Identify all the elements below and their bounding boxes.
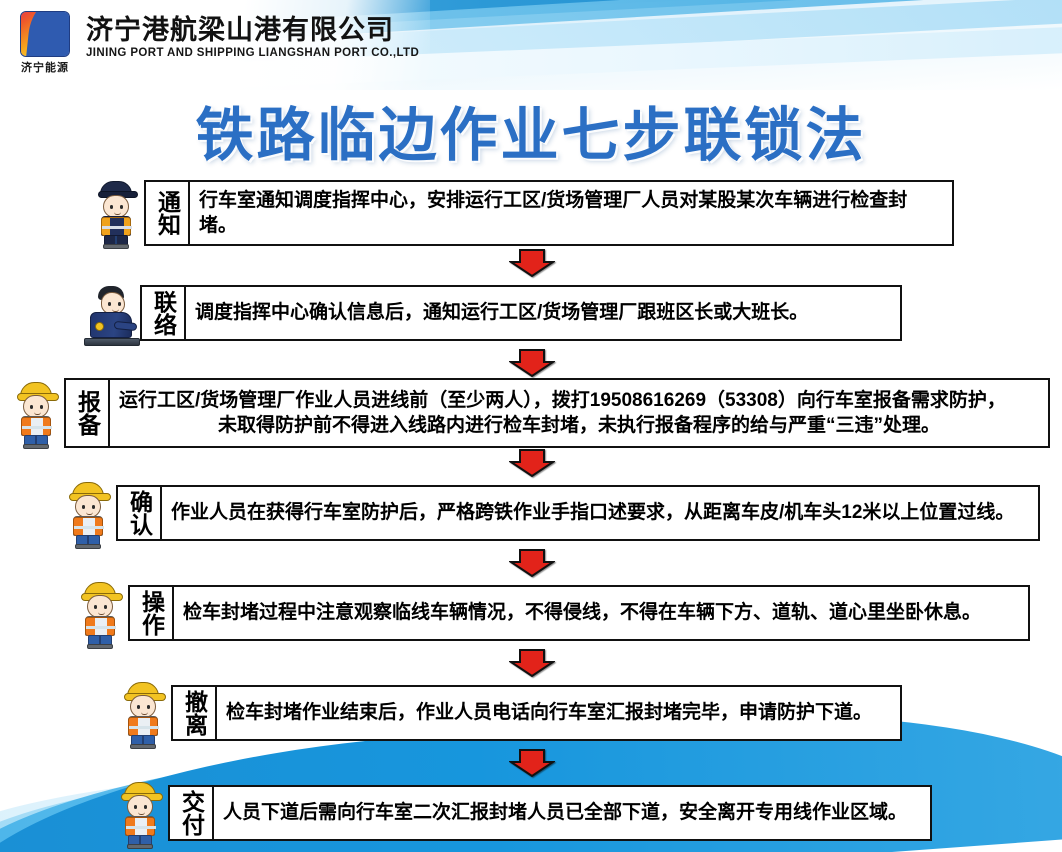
arrow-row-4 bbox=[0, 548, 1062, 578]
railway-officer-icon bbox=[88, 178, 144, 248]
down-arrow-icon bbox=[509, 349, 555, 377]
step-6-card: 撤离 检车封堵作业结束后，作业人员电话向行车室汇报封堵完毕，申请防护下道。 bbox=[171, 685, 902, 741]
step-2-content-box: 调度指挥中心确认信息后，通知运行工区/货场管理厂跟班区长或大班长。 bbox=[186, 285, 902, 341]
page-title: 铁路临边作业七步联锁法 bbox=[0, 88, 1062, 172]
brand-block: 济宁能源 济宁港航梁山港有限公司 JINING PORT AND SHIPPIN… bbox=[14, 12, 419, 75]
step-1-content-box: 行车室通知调度指挥中心，安排运行工区/货场管理厂人员对某股某次车辆进行检查封堵。 bbox=[190, 180, 954, 246]
mascot-2 bbox=[84, 278, 140, 348]
step-2-text: 调度指挥中心确认信息后，通知运行工区/货场管理厂跟班区长或大班长。 bbox=[195, 300, 891, 325]
arrow-row-6 bbox=[0, 748, 1062, 778]
step-row-4: 确认 作业人员在获得行车室防护后，严格跨铁作业手指口述要求，从距离车皮/机车头1… bbox=[0, 478, 1062, 548]
step-7-content-box: 人员下道后需向行车室二次汇报封堵人员已全部下道，安全离开专用线作业区域。 bbox=[214, 785, 932, 841]
mascot-1 bbox=[88, 178, 144, 248]
down-arrow-icon bbox=[509, 749, 555, 777]
mascot-6 bbox=[115, 678, 171, 748]
mascot-7 bbox=[112, 778, 168, 848]
step-2-label-box: 联络 bbox=[140, 285, 186, 341]
step-row-1: 通知 行车室通知调度指挥中心，安排运行工区/货场管理厂人员对某股某次车辆进行检查… bbox=[0, 178, 1062, 248]
step-2-label: 联络 bbox=[152, 290, 175, 336]
step-2-card: 联络 调度指挥中心确认信息后，通知运行工区/货场管理厂跟班区长或大班长。 bbox=[140, 285, 902, 341]
step-row-7: 交付 人员下道后需向行车室二次汇报封堵人员已全部下道，安全离开专用线作业区域。 bbox=[0, 778, 1062, 848]
arrow-row-5 bbox=[0, 648, 1062, 678]
company-logo-icon bbox=[21, 12, 69, 56]
step-5-card: 操作 检车封堵过程中注意观察临线车辆情况，不得侵线，不得在车辆下方、道轨、道心里… bbox=[128, 585, 1030, 641]
down-arrow-icon bbox=[509, 449, 555, 477]
step-7-text: 人员下道后需向行车室二次汇报封堵人员已全部下道，安全离开专用线作业区域。 bbox=[223, 800, 921, 825]
step-1-label: 通知 bbox=[156, 190, 179, 236]
step-3-label: 报备 bbox=[76, 390, 99, 436]
safety-worker-icon bbox=[115, 678, 171, 748]
logo-wrapper: 济宁能源 bbox=[14, 12, 76, 75]
step-5-label-box: 操作 bbox=[128, 585, 174, 641]
dispatcher-at-desk-icon bbox=[84, 278, 140, 348]
step-6-label-box: 撤离 bbox=[171, 685, 217, 741]
company-name-cn: 济宁港航梁山港有限公司 bbox=[86, 16, 419, 44]
safety-worker-icon bbox=[60, 478, 116, 548]
step-5-text: 检车封堵过程中注意观察临线车辆情况，不得侵线，不得在车辆下方、道轨、道心里坐卧休… bbox=[183, 600, 1019, 625]
poster-canvas: 济宁能源 济宁港航梁山港有限公司 JINING PORT AND SHIPPIN… bbox=[0, 0, 1062, 852]
step-3-content-box: 运行工区/货场管理厂作业人员进线前（至少两人），拨打19508616269（53… bbox=[110, 378, 1050, 448]
step-7-label: 交付 bbox=[180, 790, 203, 836]
mascot-4 bbox=[60, 478, 116, 548]
step-row-3: 报备 运行工区/货场管理厂作业人员进线前（至少两人），拨打19508616269… bbox=[0, 378, 1062, 448]
arrow-row-1 bbox=[0, 248, 1062, 278]
step-row-2: 联络 调度指挥中心确认信息后，通知运行工区/货场管理厂跟班区长或大班长。 bbox=[0, 278, 1062, 348]
arrow-row-2 bbox=[0, 348, 1062, 378]
step-7-card: 交付 人员下道后需向行车室二次汇报封堵人员已全部下道，安全离开专用线作业区域。 bbox=[168, 785, 932, 841]
step-row-6: 撤离 检车封堵作业结束后，作业人员电话向行车室汇报封堵完毕，申请防护下道。 bbox=[0, 678, 1062, 748]
step-4-label: 确认 bbox=[128, 490, 151, 536]
step-5-label: 操作 bbox=[140, 590, 163, 636]
step-3-card: 报备 运行工区/货场管理厂作业人员进线前（至少两人），拨打19508616269… bbox=[64, 378, 1050, 448]
safety-worker-icon bbox=[8, 378, 64, 448]
step-4-label-box: 确认 bbox=[116, 485, 162, 541]
seven-step-flow: 通知 行车室通知调度指挥中心，安排运行工区/货场管理厂人员对某股某次车辆进行检查… bbox=[0, 178, 1062, 848]
step-1-text: 行车室通知调度指挥中心，安排运行工区/货场管理厂人员对某股某次车辆进行检查封堵。 bbox=[199, 188, 943, 238]
step-1-label-box: 通知 bbox=[144, 180, 190, 246]
logo-subtitle: 济宁能源 bbox=[14, 59, 76, 75]
step-6-content-box: 检车封堵作业结束后，作业人员电话向行车室汇报封堵完毕，申请防护下道。 bbox=[217, 685, 902, 741]
step-7-label-box: 交付 bbox=[168, 785, 214, 841]
company-name-en: JINING PORT AND SHIPPING LIANGSHAN PORT … bbox=[86, 47, 419, 59]
down-arrow-icon bbox=[509, 649, 555, 677]
step-4-content-box: 作业人员在获得行车室防护后，严格跨铁作业手指口述要求，从距离车皮/机车头12米以… bbox=[162, 485, 1040, 541]
safety-worker-icon bbox=[72, 578, 128, 648]
down-arrow-icon bbox=[509, 549, 555, 577]
brand-text: 济宁港航梁山港有限公司 JINING PORT AND SHIPPING LIA… bbox=[86, 12, 419, 59]
page-header: 济宁能源 济宁港航梁山港有限公司 JINING PORT AND SHIPPIN… bbox=[0, 0, 1062, 90]
step-5-content-box: 检车封堵过程中注意观察临线车辆情况，不得侵线，不得在车辆下方、道轨、道心里坐卧休… bbox=[174, 585, 1030, 641]
step-3-label-box: 报备 bbox=[64, 378, 110, 448]
step-3-text-line2: 未取得防护前不得进入线路内进行检车封堵，未执行报备程序的给与严重“三违”处理。 bbox=[119, 413, 1039, 438]
down-arrow-icon bbox=[509, 249, 555, 277]
step-4-text: 作业人员在获得行车室防护后，严格跨铁作业手指口述要求，从距离车皮/机车头12米以… bbox=[171, 500, 1029, 525]
mascot-5 bbox=[72, 578, 128, 648]
arrow-row-3 bbox=[0, 448, 1062, 478]
step-row-5: 操作 检车封堵过程中注意观察临线车辆情况，不得侵线，不得在车辆下方、道轨、道心里… bbox=[0, 578, 1062, 648]
step-3-text: 运行工区/货场管理厂作业人员进线前（至少两人），拨打19508616269（53… bbox=[119, 388, 1039, 438]
step-6-label: 撤离 bbox=[183, 690, 206, 736]
step-1-card: 通知 行车室通知调度指挥中心，安排运行工区/货场管理厂人员对某股某次车辆进行检查… bbox=[144, 180, 954, 246]
step-3-text-line1: 运行工区/货场管理厂作业人员进线前（至少两人），拨打19508616269（53… bbox=[119, 388, 1039, 413]
mascot-3 bbox=[8, 378, 64, 448]
safety-worker-icon bbox=[112, 778, 168, 848]
step-4-card: 确认 作业人员在获得行车室防护后，严格跨铁作业手指口述要求，从距离车皮/机车头1… bbox=[116, 485, 1040, 541]
step-6-text: 检车封堵作业结束后，作业人员电话向行车室汇报封堵完毕，申请防护下道。 bbox=[226, 700, 891, 725]
